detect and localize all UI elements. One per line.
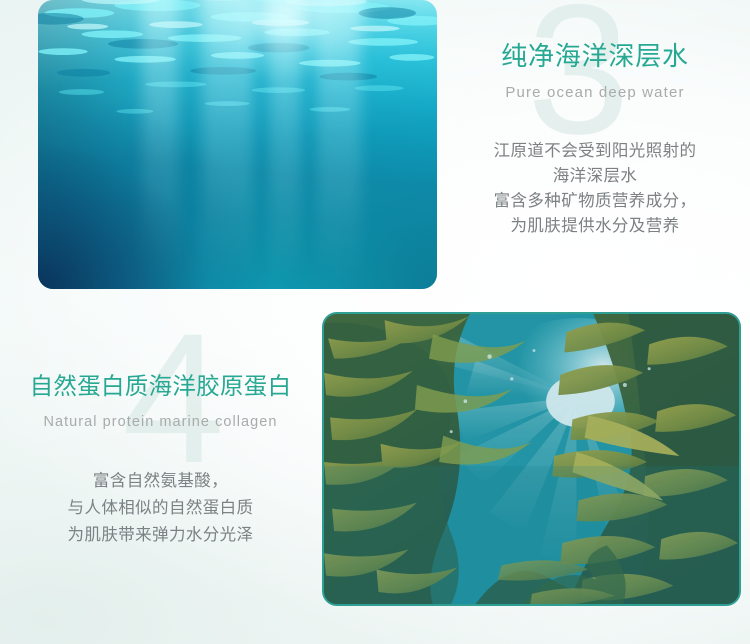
ocean-deep-shadow: [38, 75, 269, 289]
section-3-heading-cn: 纯净海洋深层水: [447, 40, 743, 73]
ocean-deep-shadow-right: [253, 173, 437, 289]
body-line: 江原道不会受到阳光照射的: [447, 139, 743, 164]
body-line: 海洋深层水: [447, 164, 743, 189]
section-3-heading-en: Pure ocean deep water: [447, 84, 743, 101]
section-4-body: 富含自然氨基酸， 与人体相似的自然蛋白质 为肌肤带来弹力水分光泽: [8, 468, 313, 549]
product-detail-page: 3: [0, 0, 750, 644]
section-3-text-block: 纯净海洋深层水 Pure ocean deep water 江原道不会受到阳光照…: [447, 40, 743, 239]
section-3-body: 江原道不会受到阳光照射的 海洋深层水 富含多种矿物质营养成分， 为肌肤提供水分及…: [447, 139, 743, 239]
kelp-forest-photo: [322, 312, 741, 606]
body-line: 为肌肤提供水分及营养: [447, 214, 743, 239]
body-line: 为肌肤带来弹力水分光泽: [8, 522, 313, 549]
kelp-forest-illustration: [324, 314, 739, 604]
body-line: 富含自然氨基酸，: [8, 468, 313, 495]
section-4-text-block: 自然蛋白质海洋胶原蛋白 Natural protein marine colla…: [8, 372, 313, 549]
body-line: 与人体相似的自然蛋白质: [8, 495, 313, 522]
underwater-ocean-surface-photo: [38, 0, 437, 289]
section-4-heading-en: Natural protein marine collagen: [8, 414, 313, 430]
body-line: 富含多种矿物质营养成分，: [447, 189, 743, 214]
section-4-heading-cn: 自然蛋白质海洋胶原蛋白: [8, 372, 313, 401]
